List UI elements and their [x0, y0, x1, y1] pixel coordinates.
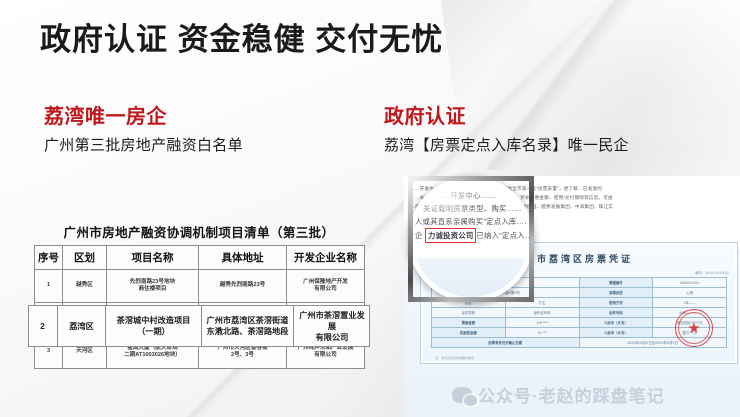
right-column-heading-group: 政府认证 荔湾【房票定点入库名录】唯一民企 — [384, 104, 629, 157]
certificate-cell: 1年—— — [653, 298, 727, 308]
seal-ring — [678, 312, 710, 344]
slide-root: 政府认证 资金稳健 交付无忧 荔湾唯一房企 广州第三批房地产融资白名单 政府认证… — [0, 0, 740, 417]
official-seal-icon: ★ — [675, 309, 713, 347]
magnified-line-3: 人或其直系亲属购买"定点入库…… — [413, 215, 529, 228]
column-header-address: 具体地址 — [199, 246, 287, 270]
certificate-cell: 房票有效兑付截止日期 — [432, 338, 580, 348]
page-title: 政府认证 资金稳健 交付无忧 — [40, 20, 443, 60]
table-header-row: 序号 区划 项目名称 具体地址 开发企业名称 — [35, 246, 365, 270]
cell-district: 越秀区 — [63, 270, 107, 303]
highlighted-table-row: 2 荔湾区 茶滘城中村改造项目（一期） 广州市荔湾区茶滘街道东漖北路、茶滘路地段… — [28, 305, 370, 347]
certificate-cell: 证件类别 — [432, 308, 506, 318]
certificate-cell: 440XXXXXX — [653, 278, 727, 288]
magnified-line-2: 关证载明房票类型、购买…… — [413, 202, 529, 215]
magnifier-lens: ……开发中心…… 关证载明房票类型、购买…… 人或其直系亲属购买"定点入库…… … — [408, 176, 534, 302]
certificate-cell: 2.5***** — [505, 318, 579, 328]
certificate-cell: 房票类型 — [579, 288, 653, 298]
wechat-icon — [452, 387, 472, 403]
cell-company: 广州保隆地产开发有限公司 — [287, 270, 365, 303]
highlight-cell-no: 2 — [28, 305, 58, 347]
table-row: 1越秀区先烈南路23号地块商住楼项目越秀先烈南路23号广州保隆地产开发有限公司 — [35, 270, 365, 303]
highlight-cell-company: 广州市茶滘置业发展有限公司 — [294, 305, 370, 347]
certificate-cell: 01.*** — [505, 328, 579, 338]
highlight-cell-district: 荔湾区 — [58, 305, 106, 347]
watermark: 公众号·老赵的踩盘笔记 — [452, 382, 665, 407]
column-header-project: 项目名称 — [107, 246, 199, 270]
magnified-line-4-suffix: 已纳入"定点入…… — [476, 231, 529, 240]
cell-address: 越秀先烈南路23号 — [199, 270, 287, 303]
magnified-line-1: ……开发中心…… — [413, 189, 529, 202]
magnifier-content: ……开发中心…… 关证载明房票类型、购买…… 人或其直系亲属购买"定点入库…… … — [413, 181, 529, 297]
cell-no: 1 — [35, 270, 63, 303]
background-fold-decoration — [434, 0, 740, 202]
column-header-district: 区划 — [63, 246, 107, 270]
left-subhead: 广州第三批房地产融资白名单 — [44, 135, 243, 157]
certificate-cell: 户主 — [505, 298, 579, 308]
column-header-company: 开发企业名称 — [287, 246, 365, 270]
table-caption: 广州市房地产融资协调机制项目清单（第三批） — [34, 222, 364, 245]
certificate-cell: 奖励性金额 — [432, 328, 506, 338]
left-column-heading-group: 荔湾唯一房企 广州第三批房地产融资白名单 — [44, 104, 243, 157]
project-list-figure: 广州市房地产融资协调机制项目清单（第三批） 序号 区划 项目名称 具体地址 开发… — [34, 222, 364, 382]
right-subhead: 荔湾【房票定点入库名录】唯一民企 — [384, 135, 629, 157]
highlighted-company-name: 力诚投资公司 — [425, 228, 477, 243]
certificate-cell: 证件号码 — [579, 308, 653, 318]
magnified-line-4-prefix: 企 — [415, 231, 423, 240]
certificate-cell: 身份证号码 — [505, 308, 579, 318]
magnified-line-4: 企 力诚投资公司已纳入"定点入…… — [413, 228, 529, 243]
cell-project: 先烈南路23号地块商住楼项目 — [107, 270, 199, 303]
left-headline: 荔湾唯一房企 — [44, 104, 243, 130]
certificate-footer-note: 注：本凭证仅在有效期内使用 — [435, 356, 474, 360]
certificate-cell: 票据编号 — [579, 278, 653, 288]
watermark-text: 公众号·老赵的踩盘笔记 — [478, 382, 665, 407]
highlight-cell-address: 广州市荔湾区茶滘街道东漖北路、茶滘路地段 — [202, 305, 294, 347]
column-header-no: 序号 — [35, 246, 63, 270]
certificate-cell: 票面金额 — [432, 318, 506, 328]
certificate-cell: 人民币（大写） — [579, 328, 653, 338]
certificate-cell: 使用方式 — [579, 298, 653, 308]
right-headline: 政府认证 — [384, 104, 629, 130]
certificate-cell: 人民币（大写） — [579, 318, 653, 328]
highlight-cell-project: 茶滘城中村改造项目（一期） — [106, 305, 202, 347]
certificate-cell: 公房 — [653, 288, 727, 298]
